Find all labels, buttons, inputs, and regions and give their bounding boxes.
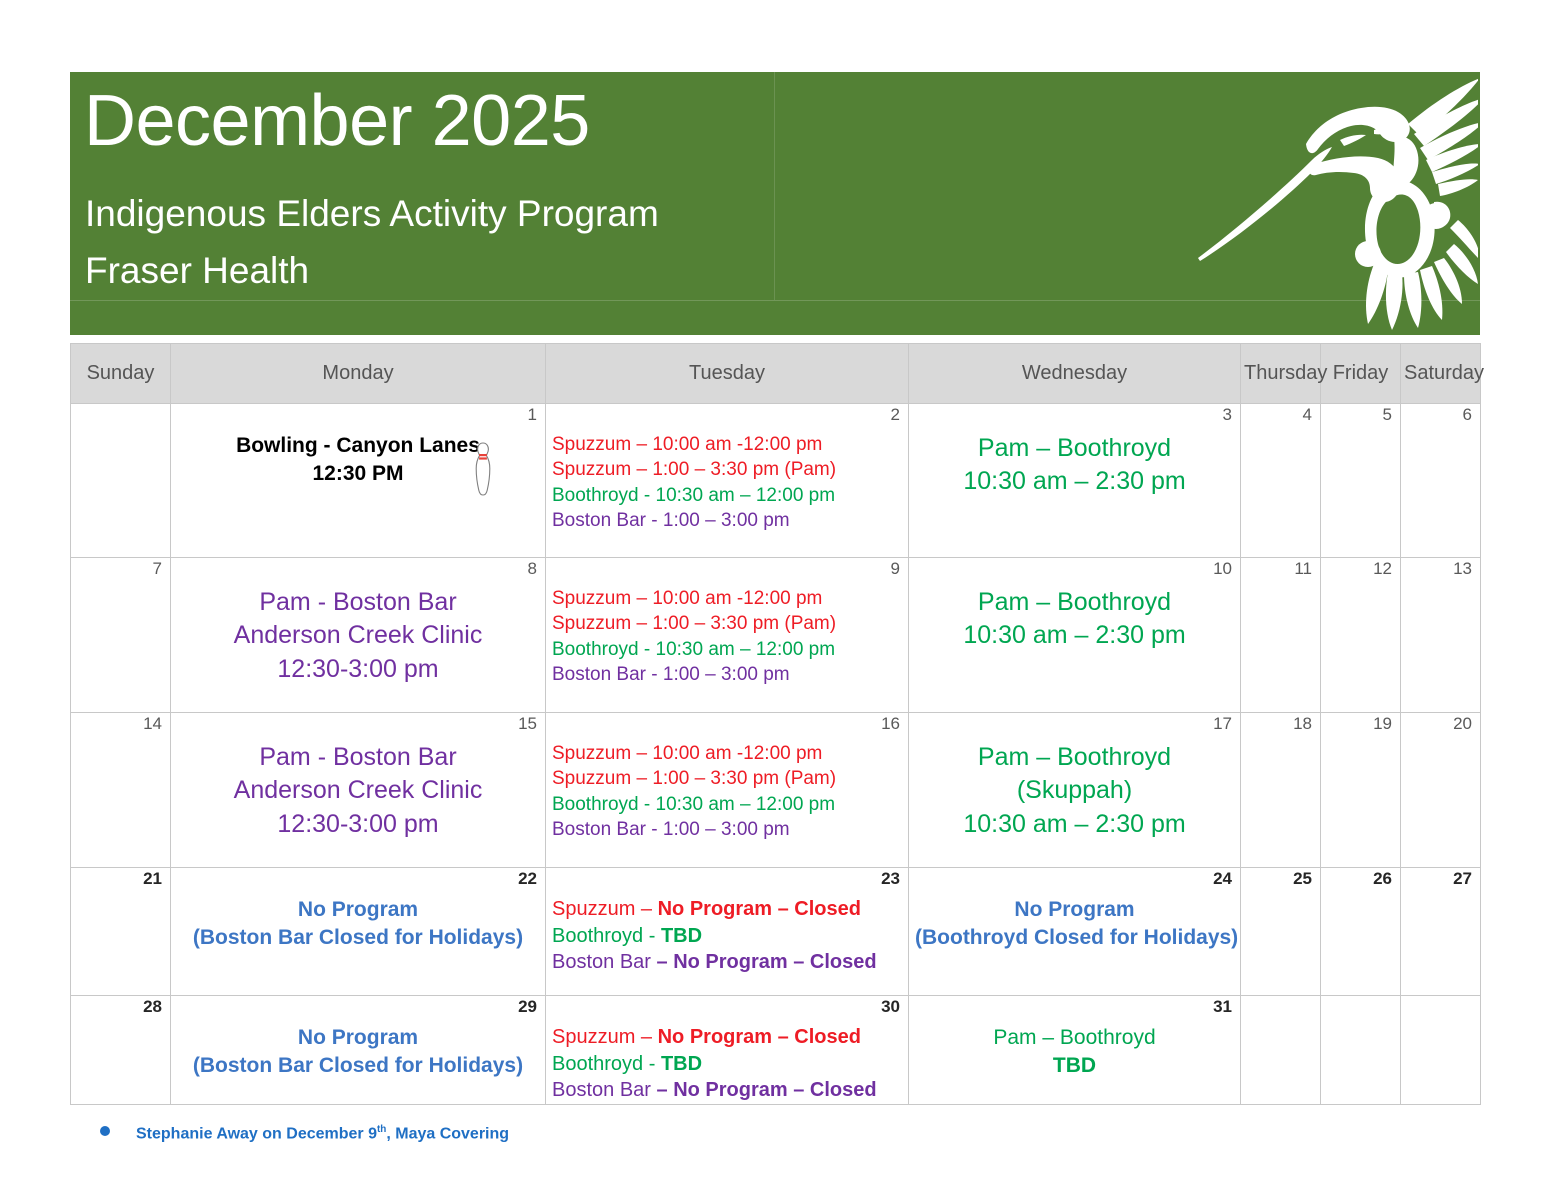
event-line: Boston Bar – No Program – Closed <box>552 949 902 976</box>
day-cell-16[interactable]: 16Spuzzum – 10:00 am -12:00 pmSpuzzum – … <box>546 713 909 868</box>
program-subtitle: Indigenous Elders Activity Program <box>85 192 659 236</box>
day-cell-28[interactable]: 28 <box>71 996 171 1105</box>
event-text: Pam – Boothroyd <box>993 1026 1155 1049</box>
event-text: Spuzzum – 1:00 – 3:30 pm (Pam) <box>552 613 836 634</box>
event-line: Boston Bar - 1:00 – 3:00 pm <box>552 817 902 842</box>
day-events: No Program(Boston Bar Closed for Holiday… <box>171 868 545 952</box>
day-number: 15 <box>518 715 537 734</box>
day-cell-23[interactable]: 23Spuzzum – No Program – ClosedBoothroyd… <box>546 868 909 996</box>
day-cell-12[interactable]: 12 <box>1321 558 1401 713</box>
day-number: 22 <box>518 870 537 889</box>
event-text: Boston Bar <box>552 951 657 973</box>
day-number: 19 <box>1373 715 1392 734</box>
weekday-header-row: Sunday Monday Tuesday Wednesday Thursday… <box>71 344 1481 404</box>
event-text: TBD <box>1053 1054 1096 1077</box>
day-number: 8 <box>528 560 537 579</box>
event-line: Spuzzum – 1:00 – 3:30 pm (Pam) <box>552 611 902 636</box>
event-text: (Boston Bar Closed for Holidays) <box>193 1054 523 1077</box>
day-events: Pam – BoothroydTBD <box>909 996 1240 1080</box>
event-list: No Program(Boston Bar Closed for Holiday… <box>177 896 539 952</box>
day-cell-empty-saturday[interactable] <box>1401 996 1481 1105</box>
day-cell-empty-friday[interactable] <box>1321 996 1401 1105</box>
event-text: Bowling - Canyon Lanes <box>236 434 480 457</box>
day-number: 23 <box>881 870 900 889</box>
day-number: 12 <box>1373 560 1392 579</box>
event-list: Pam – Boothroyd10:30 am – 2:30 pm <box>915 432 1234 499</box>
day-number: 30 <box>881 998 900 1017</box>
day-cell-15[interactable]: 15Pam - Boston BarAnderson Creek Clinic1… <box>171 713 546 868</box>
event-line: Spuzzum – 10:00 am -12:00 pm <box>552 741 902 766</box>
event-line: Pam – Boothroyd <box>915 1024 1234 1052</box>
day-number: 18 <box>1293 715 1312 734</box>
event-text: Spuzzum – 10:00 am -12:00 pm <box>552 434 822 455</box>
day-events: Pam - Boston BarAnderson Creek Clinic12:… <box>171 713 545 841</box>
header-banner: December 2025 Indigenous Elders Activity… <box>70 72 1480 335</box>
event-text: Pam – Boothroyd <box>978 588 1171 616</box>
footer-note-ordinal: th <box>377 1124 386 1135</box>
event-line: 10:30 am – 2:30 pm <box>915 465 1234 498</box>
event-line: Spuzzum – 1:00 – 3:30 pm (Pam) <box>552 457 902 482</box>
event-line: (Boston Bar Closed for Holidays) <box>177 924 539 952</box>
day-cell-26[interactable]: 26 <box>1321 868 1401 996</box>
event-line: Pam – Boothroyd <box>915 741 1234 774</box>
day-cell-18[interactable]: 18 <box>1241 713 1321 868</box>
day-cell-empty-thursday[interactable] <box>1241 996 1321 1105</box>
event-text: (Boston Bar Closed for Holidays) <box>193 926 523 949</box>
day-number: 2 <box>891 406 900 425</box>
event-text: No Program – Closed <box>658 1026 861 1048</box>
day-cell-1[interactable]: 1Bowling - Canyon Lanes12:30 PM <box>171 404 546 558</box>
day-cell-6[interactable]: 6 <box>1401 404 1481 558</box>
weekday-header-thursday: Thursday <box>1241 344 1321 404</box>
event-line: Pam - Boston Bar <box>177 586 539 619</box>
day-events: No Program(Boston Bar Closed for Holiday… <box>171 996 545 1080</box>
day-number: 26 <box>1373 870 1392 889</box>
day-events: Spuzzum – 10:00 am -12:00 pmSpuzzum – 1:… <box>546 404 908 533</box>
event-text: Boston Bar - 1:00 – 3:00 pm <box>552 819 790 840</box>
day-number: 3 <box>1223 406 1232 425</box>
day-events: Spuzzum – No Program – ClosedBoothroyd -… <box>546 868 908 976</box>
list-item: Stephanie Away on December 9th, Maya Cov… <box>70 1124 1480 1143</box>
day-cell-29[interactable]: 29No Program(Boston Bar Closed for Holid… <box>171 996 546 1105</box>
event-text: Spuzzum – <box>552 898 658 920</box>
weekday-header-saturday: Saturday <box>1401 344 1481 404</box>
event-line: Anderson Creek Clinic <box>177 619 539 652</box>
event-line: 12:30-3:00 pm <box>177 808 539 841</box>
weekday-header-tuesday: Tuesday <box>546 344 909 404</box>
event-list: Spuzzum – No Program – ClosedBoothroyd -… <box>552 1024 902 1104</box>
event-text: – No Program – Closed <box>657 951 877 973</box>
day-events: Spuzzum – 10:00 am -12:00 pmSpuzzum – 1:… <box>546 558 908 687</box>
event-text: 10:30 am – 2:30 pm <box>963 467 1185 495</box>
day-cell-20[interactable]: 20 <box>1401 713 1481 868</box>
event-line: 10:30 am – 2:30 pm <box>915 619 1234 652</box>
day-number: 14 <box>143 715 162 734</box>
event-line: Boothroyd - 10:30 am – 12:00 pm <box>552 792 902 817</box>
day-cell-31[interactable]: 31Pam – BoothroydTBD <box>909 996 1241 1105</box>
day-number: 20 <box>1453 715 1472 734</box>
day-cell-10[interactable]: 10Pam – Boothroyd10:30 am – 2:30 pm <box>909 558 1241 713</box>
day-cell-22[interactable]: 22No Program(Boston Bar Closed for Holid… <box>171 868 546 996</box>
event-line: Boston Bar - 1:00 – 3:00 pm <box>552 508 902 533</box>
calendar-week-row: 1415Pam - Boston BarAnderson Creek Clini… <box>71 713 1481 868</box>
event-text: Pam - Boston Bar <box>259 743 456 771</box>
day-number: 5 <box>1383 406 1392 425</box>
day-number: 6 <box>1463 406 1472 425</box>
event-line: 12:30-3:00 pm <box>177 653 539 686</box>
footer-note-text: Stephanie Away on December 9th, Maya Cov… <box>136 1124 509 1143</box>
event-list: Pam – Boothroyd10:30 am – 2:30 pm <box>915 586 1234 653</box>
event-list: Spuzzum – 10:00 am -12:00 pmSpuzzum – 1:… <box>552 741 902 842</box>
event-line: Boothroyd - TBD <box>552 923 902 950</box>
day-number: 29 <box>518 998 537 1017</box>
day-number: 11 <box>1294 560 1312 579</box>
event-text: Spuzzum – 1:00 – 3:30 pm (Pam) <box>552 768 836 789</box>
event-text: Boston Bar - 1:00 – 3:00 pm <box>552 664 790 685</box>
day-events: Spuzzum – No Program – ClosedBoothroyd -… <box>546 996 908 1104</box>
day-number: 7 <box>153 560 162 579</box>
event-list: Pam - Boston BarAnderson Creek Clinic12:… <box>177 741 539 841</box>
event-text: Boothroyd - 10:30 am – 12:00 pm <box>552 794 835 815</box>
event-text: Spuzzum – <box>552 1026 658 1048</box>
event-text: Spuzzum – 10:00 am -12:00 pm <box>552 743 822 764</box>
event-line: Boothroyd - 10:30 am – 12:00 pm <box>552 483 902 508</box>
day-cell-11[interactable]: 11 <box>1241 558 1321 713</box>
event-list: No Program(Boothroyd Closed for Holidays… <box>915 896 1234 952</box>
day-cell-25[interactable]: 25 <box>1241 868 1321 996</box>
footer-notes: Stephanie Away on December 9th, Maya Cov… <box>70 1124 1480 1143</box>
event-text: Boothroyd - 10:30 am – 12:00 pm <box>552 639 835 660</box>
day-cell-7[interactable]: 7 <box>71 558 171 713</box>
event-line: Pam - Boston Bar <box>177 741 539 774</box>
event-line: Boston Bar – No Program – Closed <box>552 1077 902 1104</box>
event-text: 12:30-3:00 pm <box>277 810 438 838</box>
day-cell-empty-sunday[interactable] <box>71 404 171 558</box>
event-list: Spuzzum – No Program – ClosedBoothroyd -… <box>552 896 902 976</box>
event-text: TBD <box>661 925 702 947</box>
bullet-icon <box>100 1126 110 1136</box>
day-cell-2[interactable]: 2Spuzzum – 10:00 am -12:00 pmSpuzzum – 1… <box>546 404 909 558</box>
day-cell-24[interactable]: 24No Program(Boothroyd Closed for Holida… <box>909 868 1241 996</box>
event-text: No Program <box>1014 898 1134 921</box>
day-number: 31 <box>1213 998 1232 1017</box>
event-line: Anderson Creek Clinic <box>177 774 539 807</box>
event-text: 10:30 am – 2:30 pm <box>963 621 1185 649</box>
bowling-pin-icon <box>471 441 495 497</box>
banner-divider-vertical <box>774 72 775 300</box>
day-number: 10 <box>1213 560 1232 579</box>
day-cell-5[interactable]: 5 <box>1321 404 1401 558</box>
event-line: Spuzzum – 10:00 am -12:00 pm <box>552 586 902 611</box>
day-events: Pam – Boothroyd10:30 am – 2:30 pm <box>909 558 1240 653</box>
event-text: Boothroyd - <box>552 1053 661 1075</box>
day-cell-21[interactable]: 21 <box>71 868 171 996</box>
day-number: 21 <box>143 870 162 889</box>
day-cell-17[interactable]: 17Pam – Boothroyd(Skuppah)10:30 am – 2:3… <box>909 713 1241 868</box>
calendar-body: 1Bowling - Canyon Lanes12:30 PM2Spuzzum … <box>71 404 1481 1105</box>
day-cell-3[interactable]: 3Pam – Boothroyd10:30 am – 2:30 pm <box>909 404 1241 558</box>
event-text: No Program <box>298 898 418 921</box>
day-number: 4 <box>1303 406 1312 425</box>
event-text: 12:30 PM <box>312 462 403 485</box>
event-text: Boothroyd - <box>552 925 661 947</box>
calendar-table: Sunday Monday Tuesday Wednesday Thursday… <box>70 343 1481 1105</box>
event-text: No Program – Closed <box>658 898 861 920</box>
event-text: Spuzzum – 10:00 am -12:00 pm <box>552 588 822 609</box>
page-title: December 2025 <box>84 80 590 163</box>
event-text: No Program <box>298 1026 418 1049</box>
day-number: 27 <box>1453 870 1472 889</box>
event-text: Anderson Creek Clinic <box>234 776 483 804</box>
day-cell-9[interactable]: 9Spuzzum – 10:00 am -12:00 pmSpuzzum – 1… <box>546 558 909 713</box>
event-line: Spuzzum – 1:00 – 3:30 pm (Pam) <box>552 766 902 791</box>
event-line: 10:30 am – 2:30 pm <box>915 808 1234 841</box>
event-text: – No Program – Closed <box>657 1079 877 1101</box>
event-list: No Program(Boston Bar Closed for Holiday… <box>177 1024 539 1080</box>
event-text: TBD <box>661 1053 702 1075</box>
day-events: Spuzzum – 10:00 am -12:00 pmSpuzzum – 1:… <box>546 713 908 842</box>
calendar-week-row: 2829No Program(Boston Bar Closed for Hol… <box>71 996 1481 1105</box>
event-text: Boothroyd - 10:30 am – 12:00 pm <box>552 485 835 506</box>
event-line: Pam – Boothroyd <box>915 432 1234 465</box>
day-cell-13[interactable]: 13 <box>1401 558 1481 713</box>
event-list: Spuzzum – 10:00 am -12:00 pmSpuzzum – 1:… <box>552 432 902 533</box>
event-line: Boothroyd - 10:30 am – 12:00 pm <box>552 637 902 662</box>
event-line: No Program <box>177 896 539 924</box>
footer-note-suffix: , Maya Covering <box>386 1125 509 1142</box>
day-number: 16 <box>881 715 900 734</box>
day-number: 24 <box>1213 870 1232 889</box>
organization-subtitle: Fraser Health <box>85 249 309 293</box>
event-line: Spuzzum – No Program – Closed <box>552 896 902 923</box>
event-line: Boothroyd - TBD <box>552 1051 902 1078</box>
day-cell-8[interactable]: 8Pam - Boston BarAnderson Creek Clinic12… <box>171 558 546 713</box>
event-text: 10:30 am – 2:30 pm <box>963 810 1185 838</box>
hummingbird-logo <box>1188 72 1478 335</box>
event-text: (Skuppah) <box>1017 776 1132 804</box>
day-number: 28 <box>143 998 162 1017</box>
event-text: (Boothroyd Closed for Holidays) <box>915 926 1238 949</box>
weekday-header-monday: Monday <box>171 344 546 404</box>
day-cell-4[interactable]: 4 <box>1241 404 1321 558</box>
footer-note-prefix: Stephanie Away on December 9 <box>136 1125 377 1142</box>
event-line: Boston Bar - 1:00 – 3:00 pm <box>552 662 902 687</box>
event-line: (Skuppah) <box>915 774 1234 807</box>
day-number: 1 <box>528 406 537 425</box>
event-text: Boston Bar <box>552 1079 657 1101</box>
weekday-header-sunday: Sunday <box>71 344 171 404</box>
event-text: Spuzzum – 1:00 – 3:30 pm (Pam) <box>552 459 836 480</box>
event-text: Pam – Boothroyd <box>978 743 1171 771</box>
day-number: 9 <box>891 560 900 579</box>
day-events: No Program(Boothroyd Closed for Holidays… <box>909 868 1240 952</box>
day-number: 13 <box>1453 560 1472 579</box>
day-cell-27[interactable]: 27 <box>1401 868 1481 996</box>
weekday-header-friday: Friday <box>1321 344 1401 404</box>
calendar-week-row: 1Bowling - Canyon Lanes12:30 PM2Spuzzum … <box>71 404 1481 558</box>
event-list: Spuzzum – 10:00 am -12:00 pmSpuzzum – 1:… <box>552 586 902 687</box>
event-line: TBD <box>915 1052 1234 1080</box>
day-number: 17 <box>1213 715 1232 734</box>
event-text: Anderson Creek Clinic <box>234 621 483 649</box>
event-list: Pam - Boston BarAnderson Creek Clinic12:… <box>177 586 539 686</box>
event-list: Pam – Boothroyd(Skuppah)10:30 am – 2:30 … <box>915 741 1234 841</box>
event-line: No Program <box>915 896 1234 924</box>
day-events: Pam – Boothroyd10:30 am – 2:30 pm <box>909 404 1240 499</box>
calendar-week-row: 78Pam - Boston BarAnderson Creek Clinic1… <box>71 558 1481 713</box>
event-line: (Boston Bar Closed for Holidays) <box>177 1052 539 1080</box>
day-events: Pam – Boothroyd(Skuppah)10:30 am – 2:30 … <box>909 713 1240 841</box>
day-cell-14[interactable]: 14 <box>71 713 171 868</box>
day-cell-19[interactable]: 19 <box>1321 713 1401 868</box>
event-text: 12:30-3:00 pm <box>277 655 438 683</box>
event-text: Boston Bar - 1:00 – 3:00 pm <box>552 510 790 531</box>
day-events: Pam - Boston BarAnderson Creek Clinic12:… <box>171 558 545 686</box>
calendar-page: December 2025 Indigenous Elders Activity… <box>0 0 1554 1202</box>
calendar-week-row: 2122No Program(Boston Bar Closed for Hol… <box>71 868 1481 996</box>
event-line: No Program <box>177 1024 539 1052</box>
event-text: Pam – Boothroyd <box>978 434 1171 462</box>
event-line: Spuzzum – No Program – Closed <box>552 1024 902 1051</box>
event-list: Pam – BoothroydTBD <box>915 1024 1234 1080</box>
day-number: 25 <box>1293 870 1312 889</box>
event-line: (Boothroyd Closed for Holidays) <box>915 924 1234 952</box>
event-text: Pam - Boston Bar <box>259 588 456 616</box>
weekday-header-wednesday: Wednesday <box>909 344 1241 404</box>
event-line: Spuzzum – 10:00 am -12:00 pm <box>552 432 902 457</box>
event-line: Pam – Boothroyd <box>915 586 1234 619</box>
day-cell-30[interactable]: 30Spuzzum – No Program – ClosedBoothroyd… <box>546 996 909 1105</box>
